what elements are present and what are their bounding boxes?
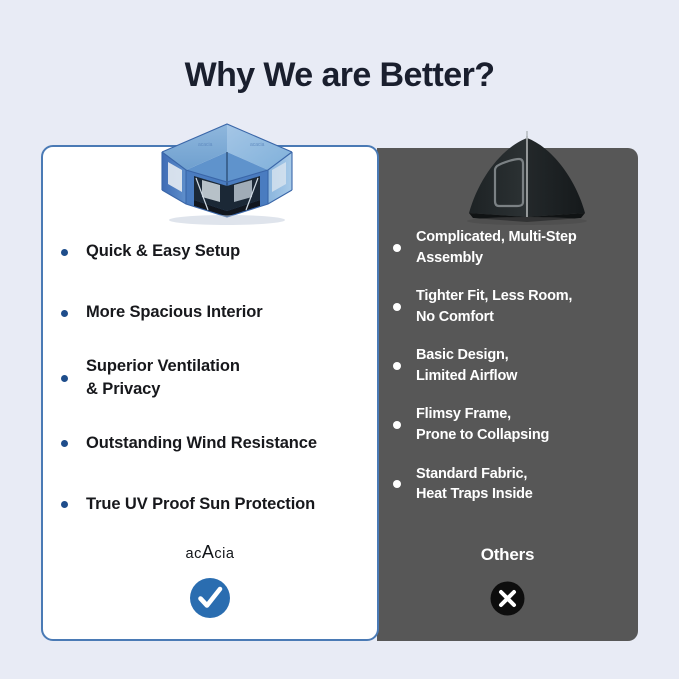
cross-circle-icon — [490, 581, 525, 616]
feature-label: More Spacious Interior — [86, 301, 263, 324]
svg-text:acacia: acacia — [198, 142, 213, 148]
list-item: True UV Proof Sun Protection — [61, 486, 366, 524]
list-item: Basic Design, Limited Airflow — [393, 345, 628, 386]
bullet-icon — [393, 362, 401, 370]
brand-logo-part-1: ac — [186, 546, 202, 562]
bullet-icon — [61, 249, 68, 256]
acacia-feature-list: Quick & Easy Setup More Spacious Interio… — [61, 233, 366, 547]
feature-label: Standard Fabric, Heat Traps Inside — [416, 464, 533, 505]
feature-label: Quick & Easy Setup — [86, 240, 240, 263]
svg-text:acacia: acacia — [250, 142, 265, 148]
brand-logo-part-3: cia — [214, 546, 234, 562]
brand-logo-part-2: A — [202, 542, 215, 562]
feature-label: Complicated, Multi-Step Assembly — [416, 227, 577, 268]
feature-label: True UV Proof Sun Protection — [86, 493, 315, 516]
list-item: Outstanding Wind Resistance — [61, 425, 366, 463]
others-tent-image — [453, 125, 601, 230]
bullet-icon — [393, 244, 401, 252]
feature-label: Outstanding Wind Resistance — [86, 432, 317, 455]
acacia-footer: acAcia — [41, 541, 379, 619]
bullet-icon — [61, 440, 68, 447]
bullet-icon — [61, 501, 68, 508]
list-item: Quick & Easy Setup — [61, 233, 366, 271]
comparison-board: acacia acacia — [41, 145, 638, 641]
check-circle-icon — [189, 577, 231, 619]
feature-label: Basic Design, Limited Airflow — [416, 345, 517, 386]
others-feature-list: Complicated, Multi-Step Assembly Tighter… — [393, 227, 628, 523]
feature-label: Flimsy Frame, Prone to Collapsing — [416, 404, 549, 445]
bullet-icon — [393, 480, 401, 488]
others-footer: Others — [377, 545, 638, 616]
list-item: Superior Ventilation & Privacy — [61, 355, 366, 402]
list-item: More Spacious Interior — [61, 294, 366, 332]
page-title: Why We are Better? — [0, 56, 679, 95]
bullet-icon — [393, 421, 401, 429]
bullet-icon — [393, 303, 401, 311]
list-item: Flimsy Frame, Prone to Collapsing — [393, 404, 628, 445]
brand-logo: acAcia — [41, 541, 379, 563]
list-item: Tighter Fit, Less Room, No Comfort — [393, 286, 628, 327]
acacia-tent-image: acacia acacia — [134, 118, 320, 230]
others-label: Others — [377, 545, 638, 565]
list-item: Standard Fabric, Heat Traps Inside — [393, 464, 628, 505]
feature-label: Superior Ventilation & Privacy — [86, 355, 240, 402]
list-item: Complicated, Multi-Step Assembly — [393, 227, 628, 268]
bullet-icon — [61, 310, 68, 317]
feature-label: Tighter Fit, Less Room, No Comfort — [416, 286, 572, 327]
bullet-icon — [61, 375, 68, 382]
